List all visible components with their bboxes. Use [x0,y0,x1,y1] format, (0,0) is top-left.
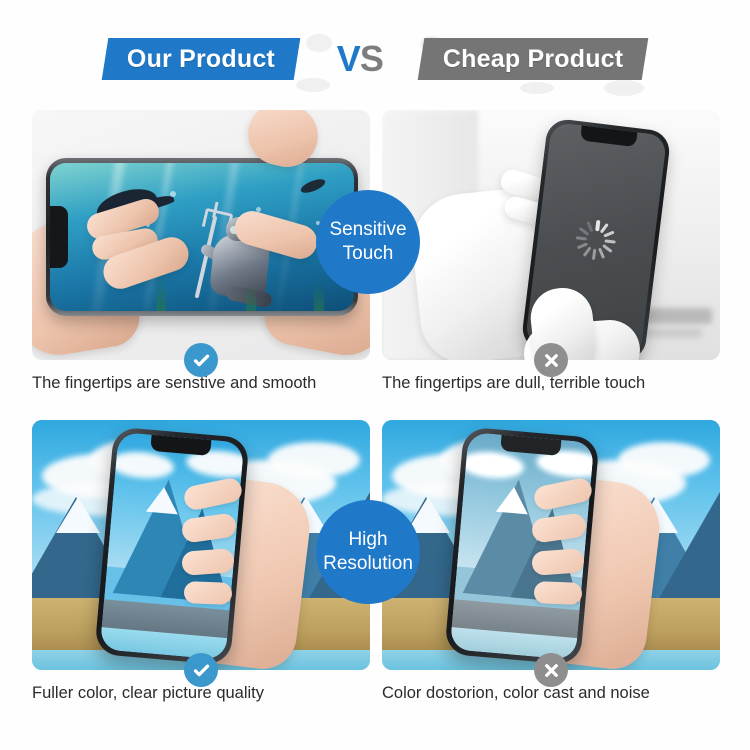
check-icon [184,653,218,687]
our-product-banner: Our Product [101,38,300,80]
phone-portrait [444,427,599,666]
badge-high-resolution: High Resolution [316,500,420,604]
vs-letter-v: V [337,38,360,79]
check-icon [184,343,218,377]
little-finger [184,581,233,605]
phone-portrait [94,427,249,666]
cheap-product-banner: Cheap Product [418,38,649,80]
header-banner-row: Our Product VS Cheap Product [0,28,750,90]
little-finger [534,581,583,605]
cheap-product-label: Cheap Product [443,45,623,74]
vs-label: VS [337,41,383,77]
ring-finger [181,548,235,576]
ring-finger [531,548,585,576]
badge-line-1: High [348,528,387,552]
badge-line-1: Sensitive [329,218,406,242]
phone-screen-landscape-photo [450,432,595,660]
cross-icon [534,653,568,687]
badge-sensitive-touch: Sensitive Touch [316,190,420,294]
cross-icon [534,343,568,377]
comparison-infographic: Our Product VS Cheap Product [0,0,750,750]
photo-hand-holding-phone-washed-out-mountain-landscape [382,420,720,670]
loading-spinner-icon [574,218,619,263]
badge-line-2: Touch [343,242,394,266]
badge-line-2: Resolution [323,552,413,576]
phone-screen-landscape-photo [100,432,245,660]
photo-grayscale-hands-holding-phone-loading-spinner [382,110,720,360]
vs-letter-s: S [360,38,383,79]
our-product-label: Our Product [127,45,275,74]
